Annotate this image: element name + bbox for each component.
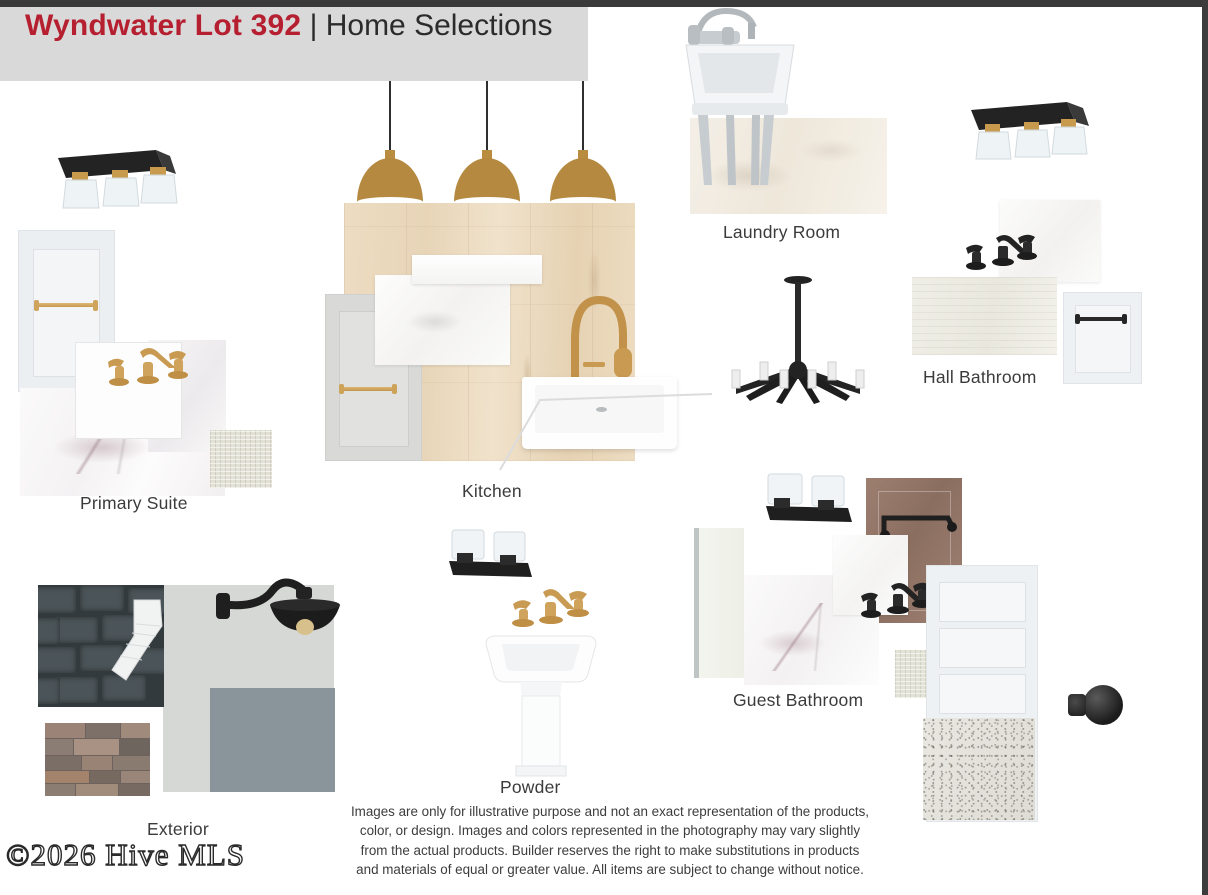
door-panel xyxy=(939,674,1026,714)
brass-dome-pendant-light xyxy=(365,78,625,206)
utility-sink-with-chrome-faucet xyxy=(678,5,808,190)
page-title: Wyndwater Lot 392 | Home Selections xyxy=(25,5,553,47)
white-aluminum-downspout xyxy=(112,600,174,695)
champagne-bronze-widespread-faucet xyxy=(96,340,201,408)
room-label-guest-bathroom: Guest Bathroom xyxy=(733,690,863,711)
room-label-laundry-room: Laundry Room xyxy=(723,222,840,243)
white-shaker-cabinet-door xyxy=(1063,292,1142,384)
matte-black-door-knob xyxy=(1083,685,1123,725)
selections-board: Wyndwater Lot 392 | Home Selections xyxy=(0,0,1208,895)
door-panel xyxy=(939,628,1026,668)
disclaimer-line-4: and materials of equal or greater value.… xyxy=(330,860,890,879)
viewer-right-edge xyxy=(1202,0,1208,895)
champagne-bronze-cabinet-pull xyxy=(340,387,396,391)
vanity-light-black-gold-3-light xyxy=(955,96,1100,176)
disclaimer-line-2: color, or design. Images and colors repr… xyxy=(330,821,890,840)
slate-grey-accent-swatch xyxy=(210,688,335,792)
board-subtitle: | Home Selections xyxy=(301,9,552,42)
matte-black-centerset-faucet xyxy=(960,230,1045,286)
room-label-hall-bathroom: Hall Bathroom xyxy=(923,367,1036,388)
wood-look-tile-flooring xyxy=(912,277,1057,355)
room-label-powder: Powder xyxy=(500,777,561,798)
room-label-primary-suite: Primary Suite xyxy=(80,493,188,514)
room-label-kitchen: Kitchen xyxy=(462,481,522,502)
disclaimer-text: Images are only for illustrative purpose… xyxy=(330,802,890,880)
beige-carpet-swatch xyxy=(210,430,272,488)
viewer-top-bar xyxy=(0,0,1208,7)
champagne-bronze-cabinet-pull xyxy=(35,303,97,307)
champagne-bronze-centerset-faucet xyxy=(505,586,597,642)
door-panel xyxy=(939,582,1026,622)
stone-veneer-swatch xyxy=(45,723,150,796)
white-pedestal-sink xyxy=(482,628,600,776)
white-quartz-countertop-swatch xyxy=(375,275,510,365)
disclaimer-line-3: from the actual products. Builder reserv… xyxy=(330,841,890,860)
vanity-light-black-2-light xyxy=(444,530,539,590)
matte-black-cabinet-pull xyxy=(1076,317,1126,321)
vanity-light-black-2-light xyxy=(760,474,860,536)
black-6-arm-chandelier xyxy=(728,270,868,415)
disclaimer-line-1: Images are only for illustrative purpose… xyxy=(330,802,890,821)
speckled-beige-carpet-swatch xyxy=(923,718,1035,820)
black-barn-gooseneck-sconce xyxy=(214,565,339,655)
project-title: Wyndwater Lot 392 xyxy=(25,9,301,42)
vanity-light-black-gold-3-light xyxy=(38,140,188,225)
sink-outline-accent xyxy=(500,392,715,474)
white-subway-tile-backsplash xyxy=(412,255,542,284)
paint-color-swatch xyxy=(694,528,744,678)
copyright-watermark: ©2026 Hive MLS xyxy=(6,836,245,874)
